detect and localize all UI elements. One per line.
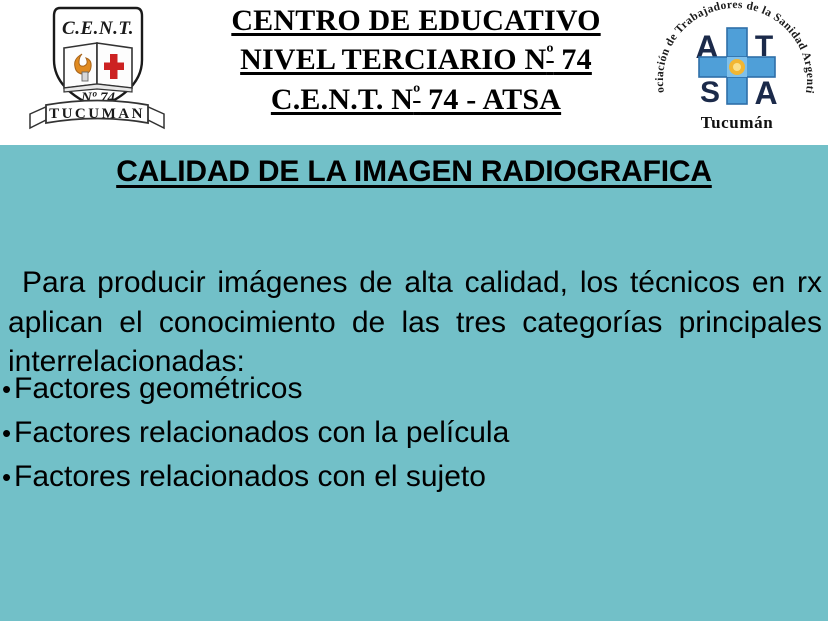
atsa-logo: Asociación de Trabajadores de la Sanidad… [644, 0, 826, 140]
bullet-icon: • [2, 376, 14, 402]
list-item-label: Factores relacionados con la película [14, 416, 509, 449]
institution-title-line-2: NIVEL TERCIARIO Nº 74 [196, 40, 636, 79]
atsa-logo-svg: Asociación de Trabajadores de la Sanidad… [644, 0, 826, 140]
crest-title-text: C.E.N.T. [62, 18, 134, 39]
list-item: •Factores relacionados con el sujeto [2, 455, 802, 499]
slide-header: C.E.N.T. [0, 0, 828, 145]
list-item-label: Factores geométricos [14, 372, 302, 405]
slide-paragraph-text: Para producir imágenes de alta calidad, … [8, 266, 822, 378]
cent-crest-svg: C.E.N.T. [12, 2, 182, 142]
institution-title: CENTRO DE EDUCATIVO NIVEL TERCIARIO Nº 7… [196, 2, 636, 119]
crest-ribbon: TUCUMAN [30, 101, 164, 129]
open-book-icon [64, 43, 132, 92]
crest-ribbon-text: TUCUMAN [49, 106, 145, 122]
slide-heading: CALIDAD DE LA IMAGEN RADIOGRAFICA [0, 155, 828, 189]
institution-title-line-1: CENTRO DE EDUCATIVO [196, 2, 636, 40]
list-item: •Factores relacionados con la película [2, 411, 802, 455]
slide-body: CALIDAD DE LA IMAGEN RADIOGRAFICA Para p… [0, 145, 828, 621]
list-item-label: Factores relacionados con el sujeto [14, 460, 486, 493]
atsa-letter-a2: A [754, 75, 777, 111]
slide-bullet-list: •Factores geométricos •Factores relacion… [2, 367, 802, 499]
atsa-sun-icon [729, 59, 745, 75]
presentation-slide: C.E.N.T. [0, 0, 828, 621]
institution-title-line-3: C.E.N.T. Nº 74 - ATSA [196, 80, 636, 119]
atsa-subtitle-text: Tucumán [701, 113, 774, 132]
slide-paragraph: Para producir imágenes de alta calidad, … [8, 263, 822, 382]
bullet-icon: • [2, 464, 14, 490]
cent-crest-logo: C.E.N.T. [12, 2, 182, 142]
atsa-letter-s: S [700, 76, 720, 109]
bullet-icon: • [2, 420, 14, 446]
list-item: •Factores geométricos [2, 367, 802, 411]
